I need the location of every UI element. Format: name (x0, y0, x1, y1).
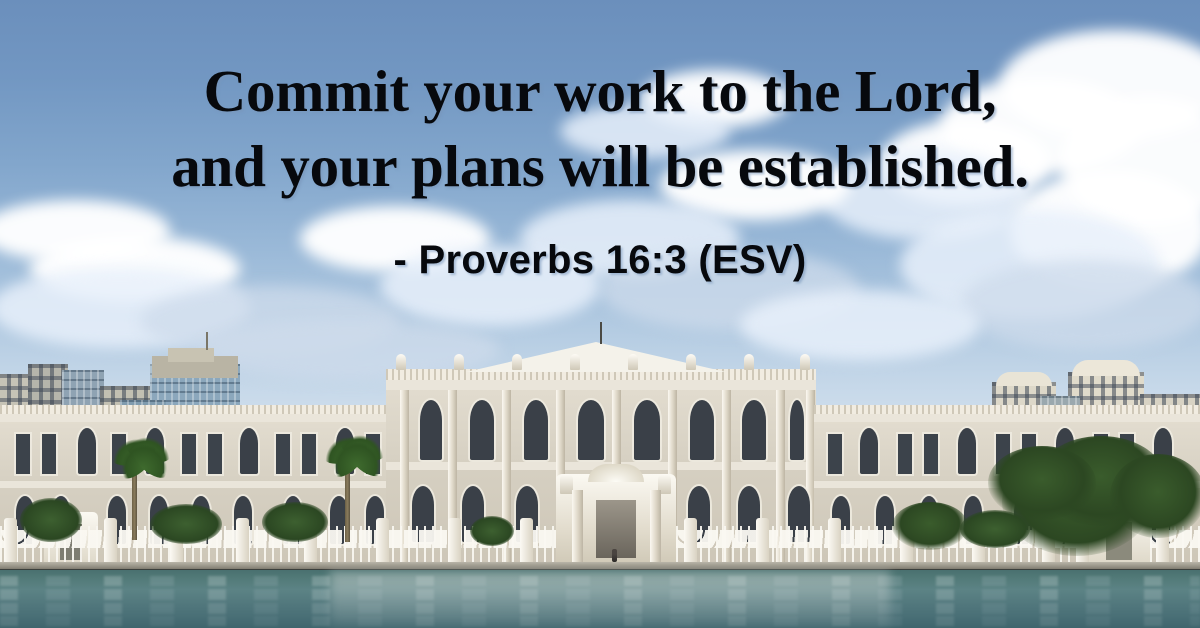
roof-finial (570, 354, 580, 370)
railing-pier (756, 518, 769, 566)
palace-window (16, 434, 30, 474)
palace-balustrade (0, 405, 388, 414)
shrub (470, 516, 514, 546)
palace-window (276, 434, 290, 474)
palace-arched-window (470, 400, 494, 460)
pine-tree (1110, 454, 1200, 538)
palace-window (42, 434, 56, 474)
palace-balustrade (814, 405, 1200, 414)
gate-column (650, 490, 661, 566)
roof-finial (454, 354, 464, 370)
palace-arched-window (78, 428, 96, 474)
railing-pier (684, 518, 697, 566)
verse-line-1: Commit your work to the Lord, (0, 54, 1200, 129)
palace-window (828, 434, 842, 474)
water-reflection (330, 572, 890, 628)
person-figure (612, 549, 617, 562)
palace-arched-window (860, 428, 878, 474)
pine-tree (988, 446, 1096, 520)
railing-pier (236, 518, 249, 566)
palace-window (924, 434, 938, 474)
shrub (262, 502, 328, 542)
roof-finial (744, 354, 754, 370)
dolmabahce-palace (0, 356, 1200, 566)
palace-arched-window (690, 400, 714, 460)
palace-arched-window (420, 400, 442, 460)
palace-window (898, 434, 912, 474)
railing-pier (828, 518, 841, 566)
roof-finial (512, 354, 522, 370)
palace-arched-window (790, 400, 804, 460)
pine-tree (892, 502, 968, 550)
palace-window (182, 434, 196, 474)
verse-reference: - Proverbs 16:3 (ESV) (0, 236, 1200, 284)
roof-finial (628, 354, 638, 370)
roof-finial (396, 354, 406, 370)
palace-cornice (386, 380, 816, 390)
shrub (150, 504, 222, 544)
shrub (20, 498, 82, 542)
gate-crest (588, 464, 644, 482)
palace-arched-window (240, 428, 258, 474)
palace-arched-window (958, 428, 976, 474)
palace-window (208, 434, 222, 474)
palace-cornice (0, 414, 388, 422)
railing-pier (4, 518, 17, 566)
palace-arched-window (578, 400, 604, 460)
verse-text: Commit your work to the Lord, and your p… (0, 54, 1200, 204)
palace-arched-window (742, 400, 766, 460)
palace-cornice (814, 414, 1200, 422)
roof-finial (800, 354, 810, 370)
scripture-image: Commit your work to the Lord, and your p… (0, 0, 1200, 628)
railing-pier (104, 518, 117, 566)
roof-finial (686, 354, 696, 370)
palace-string-course (0, 481, 388, 488)
palace-arched-window (524, 400, 548, 460)
shrub (960, 510, 1030, 548)
tower-antenna (206, 332, 208, 350)
railing-pier (520, 518, 533, 566)
palace-arched-window (634, 400, 660, 460)
railing-pier (376, 518, 389, 566)
railing-pier (448, 518, 461, 566)
gate-column (572, 490, 583, 566)
verse-line-2: and your plans will be established. (0, 129, 1200, 204)
palace-window (302, 434, 316, 474)
palace-flagpole (600, 322, 602, 344)
